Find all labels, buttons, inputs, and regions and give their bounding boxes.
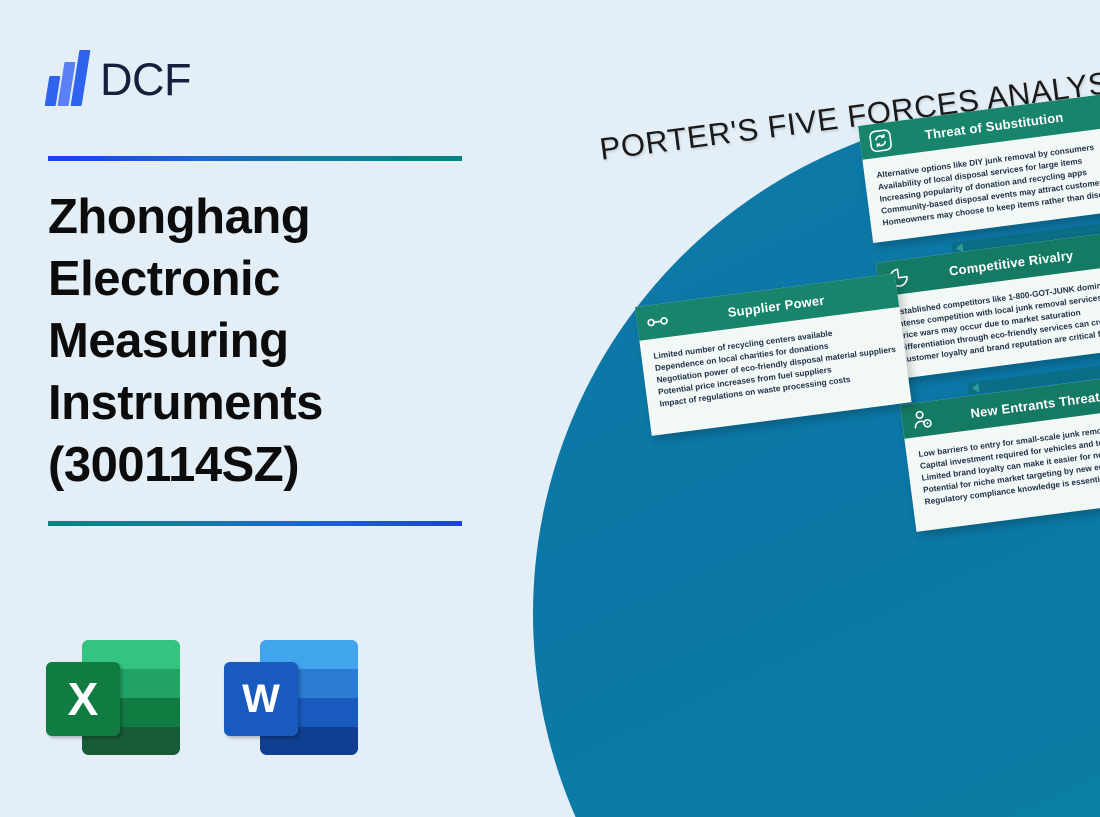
download-format-icons: X W: [46, 640, 364, 755]
dcf-logo[interactable]: DCF: [46, 42, 366, 106]
word-icon[interactable]: W: [224, 640, 364, 755]
page-title: Zhonghang Electronic Measuring Instrumen…: [48, 186, 478, 496]
user-person-icon: [910, 407, 936, 433]
divider-top: [48, 156, 462, 161]
divider-bottom: [48, 521, 462, 526]
bar-chart-logo-icon: [46, 50, 92, 106]
poster-canvas: PORTER'S FIVE FORCES ANALYSIS: [0, 0, 1100, 817]
dumbbell-link-icon: [645, 309, 671, 335]
left-info-panel: DCF Zhonghang Electronic Measuring Instr…: [0, 0, 520, 817]
arrow-left-icon: [971, 383, 979, 394]
excel-icon[interactable]: X: [46, 640, 186, 755]
word-letter: W: [224, 662, 298, 736]
logo-text: DCF: [100, 54, 191, 106]
excel-letter: X: [46, 662, 120, 736]
recycle-refresh-icon: [868, 128, 894, 154]
